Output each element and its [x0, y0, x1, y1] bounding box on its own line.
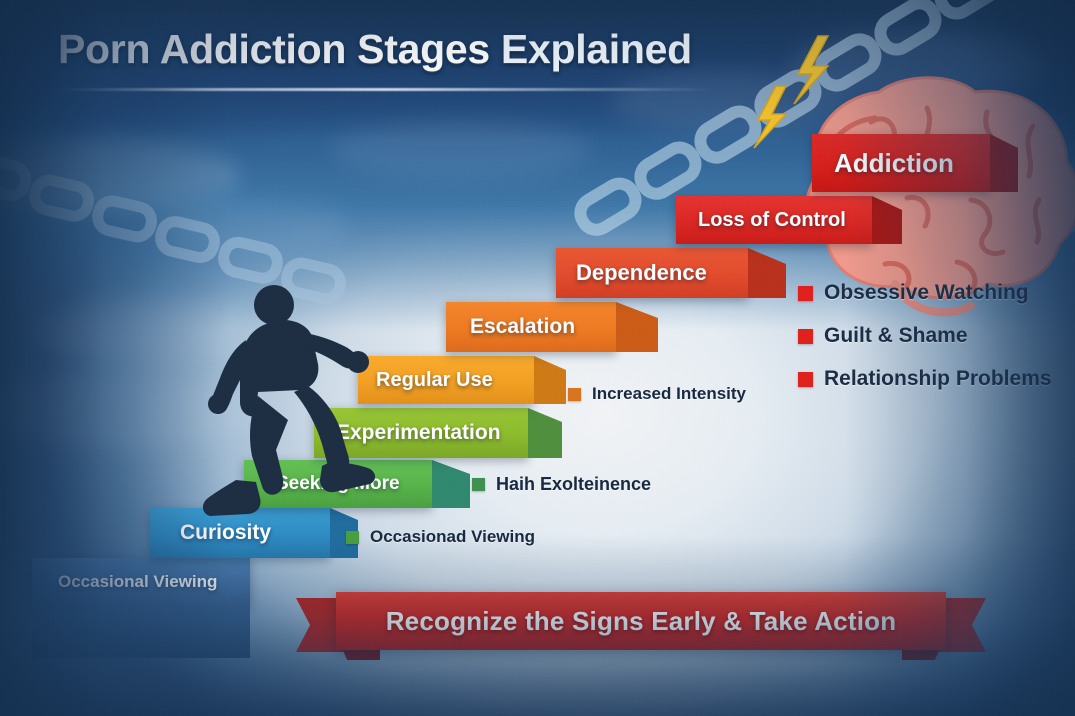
- vignette-bottom: [0, 536, 1075, 716]
- stage-step-3-label: Seeking More: [276, 473, 400, 495]
- stage-step-3[interactable]: Seeking More: [244, 460, 432, 508]
- infographic-canvas: Porn Addiction Stages Explained Occasion…: [0, 0, 1075, 716]
- stage-step-6[interactable]: Escalation: [446, 302, 616, 352]
- bullet-square-green-icon: [472, 478, 485, 491]
- stage-step-5[interactable]: Regular Use: [358, 356, 534, 404]
- bullet-high-excitement: Haih Exolteinence: [472, 474, 651, 495]
- stage-step-7[interactable]: Dependence: [556, 248, 748, 298]
- stage-step-8[interactable]: Loss of Control: [676, 196, 872, 244]
- bullet-square-red-icon: [798, 372, 813, 387]
- title-accent: Explained: [490, 26, 692, 72]
- bullet-square-orange-icon: [568, 388, 581, 401]
- stage-step-7-label: Dependence: [576, 260, 707, 286]
- bullet-increased-intensity-label: Increased Intensity: [592, 384, 746, 404]
- stage-step-4-label: Experimentation: [336, 421, 501, 445]
- bullet-square-red-icon: [798, 329, 813, 344]
- bullet-square-red-icon: [798, 286, 813, 301]
- stage-step-4[interactable]: Experimentation: [314, 408, 528, 458]
- stage-step-5-label: Regular Use: [376, 369, 493, 392]
- bullet-increased-intensity: Increased Intensity: [568, 384, 746, 404]
- stage-step-8-label: Loss of Control: [698, 209, 846, 232]
- stage-step-6-label: Escalation: [470, 315, 575, 339]
- bullet-high-excitement-label: Haih Exolteinence: [496, 474, 651, 495]
